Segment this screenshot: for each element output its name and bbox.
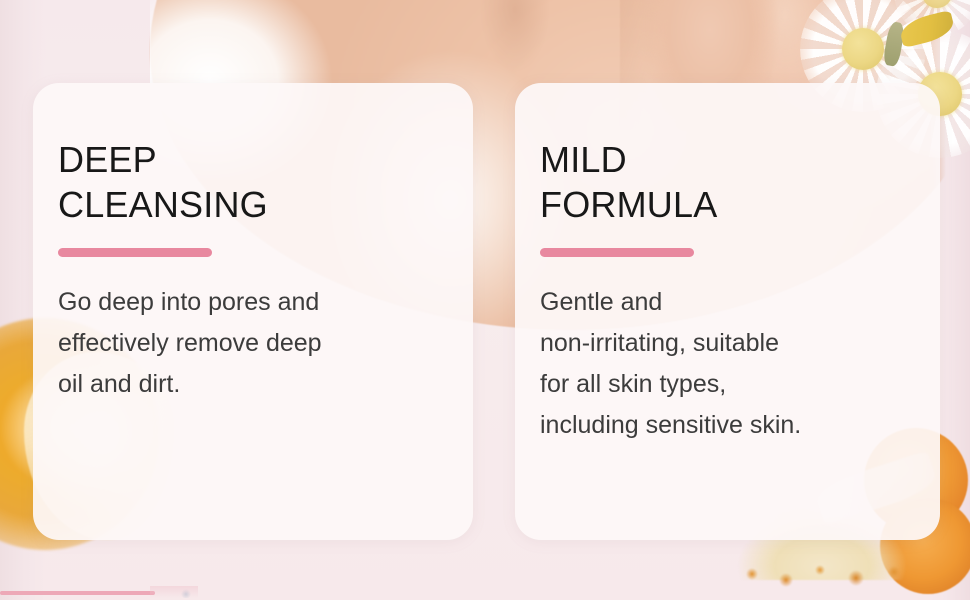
- accent-divider: [58, 248, 212, 257]
- bottom-accent-rule: [0, 591, 155, 595]
- accent-divider: [540, 248, 694, 257]
- feature-card-title: MILD FORMULA: [540, 137, 940, 227]
- feature-card-description: Go deep into pores and effectively remov…: [58, 282, 473, 405]
- feature-card-title: DEEP CLEANSING: [58, 137, 473, 227]
- feature-card-deep-cleansing: DEEP CLEANSING Go deep into pores and ef…: [33, 83, 473, 540]
- feature-card-description: Gentle and non-irritating, suitable for …: [540, 282, 940, 446]
- bottom-edge-artifact: [150, 586, 198, 598]
- feature-card-list: DEEP CLEANSING Go deep into pores and ef…: [0, 0, 970, 600]
- product-feature-banner: DEEP CLEANSING Go deep into pores and ef…: [0, 0, 970, 600]
- feature-card-mild-formula: MILD FORMULA Gentle and non-irritating, …: [515, 83, 940, 540]
